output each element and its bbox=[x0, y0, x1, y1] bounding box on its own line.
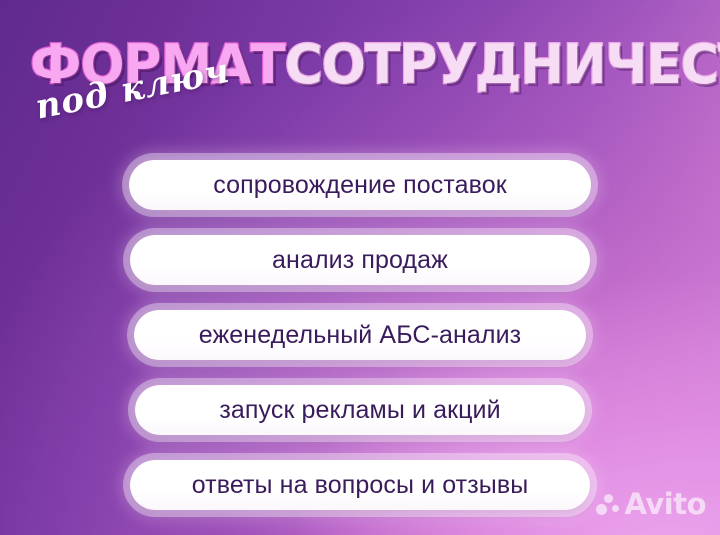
promo-banner: ФОРМАТСОТРУДНИЧЕСТВА под ключ сопровожде… bbox=[0, 0, 720, 535]
list-item-label: ответы на вопросы и отзывы bbox=[192, 471, 529, 500]
list-item: еженедельный АБС-анализ bbox=[134, 310, 586, 360]
list-item-label: запуск рекламы и акций bbox=[219, 396, 500, 425]
list-item: анализ продаж bbox=[130, 235, 590, 285]
list-item-label: еженедельный АБС-анализ bbox=[199, 321, 521, 350]
list-item-label: анализ продаж bbox=[272, 246, 448, 275]
avito-watermark: Avito bbox=[596, 490, 706, 519]
title-word-cooperation: СОТРУДНИЧЕСТВА bbox=[285, 33, 720, 96]
avito-dots-icon bbox=[596, 493, 620, 517]
service-list: сопровождение поставок анализ продаж еже… bbox=[0, 160, 720, 510]
list-item-label: сопровождение поставок bbox=[213, 171, 507, 200]
list-item: ответы на вопросы и отзывы bbox=[130, 460, 590, 510]
list-item: сопровождение поставок bbox=[129, 160, 591, 210]
avito-brand-label: Avito bbox=[624, 490, 706, 519]
list-item: запуск рекламы и акций bbox=[135, 385, 585, 435]
